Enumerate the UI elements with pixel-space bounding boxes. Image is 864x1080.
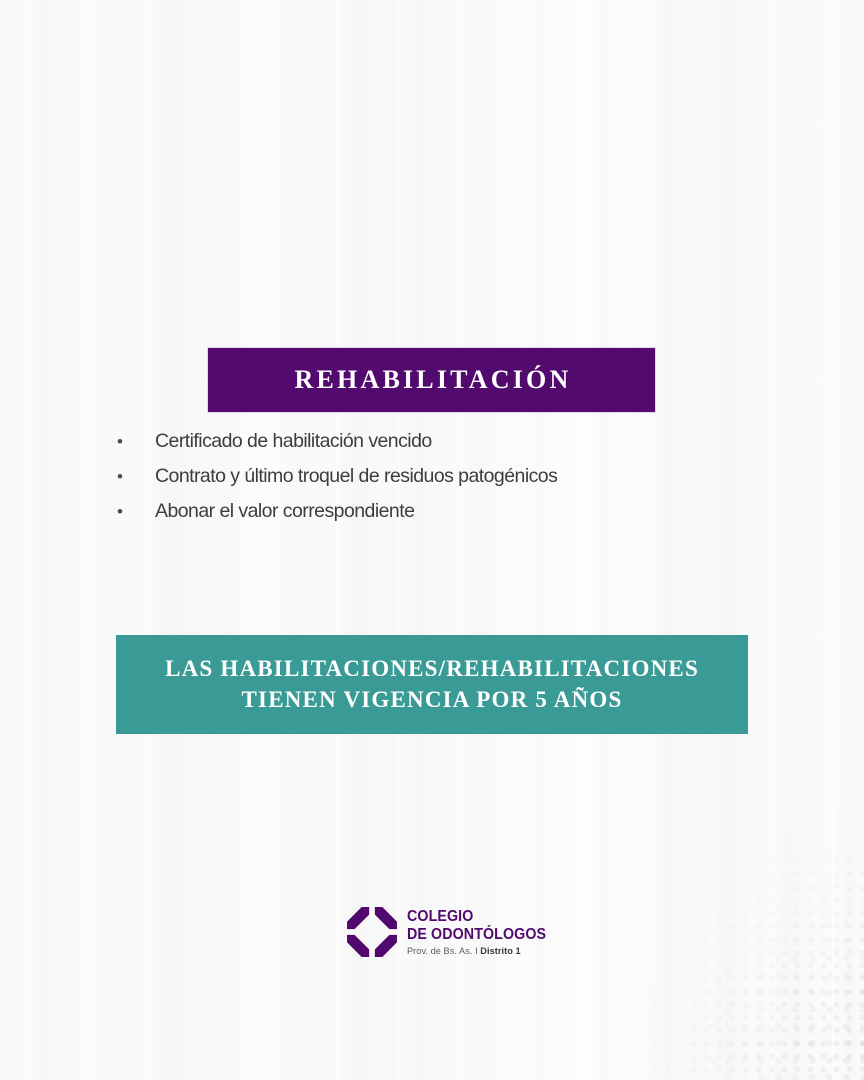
- page-title: REHABILITACIÓN: [292, 367, 572, 393]
- list-item-label: Contrato y último troquel de residuos pa…: [155, 465, 557, 488]
- logo-subtitle: Prov. de Bs. As. I Distrito 1: [407, 946, 558, 956]
- list-item-label: Abonar el valor correspondiente: [155, 500, 414, 523]
- bullet-point-icon: •: [112, 503, 155, 520]
- requirements-list: • Certificado de habilitación vencido • …: [112, 430, 752, 535]
- logo-name-line-2: DE ODONTÓLOGOS: [407, 927, 546, 943]
- logo-subtitle-district: Distrito 1: [480, 946, 520, 956]
- organization-logo: COLEGIO DE ODONTÓLOGOS Prov. de Bs. As. …: [346, 906, 558, 958]
- notice-line-1: LAS HABILITACIONES/REHABILITACIONES: [165, 654, 699, 684]
- colegio-odontologos-octagon-mark-icon: [346, 906, 398, 958]
- title-banner: REHABILITACIÓN: [208, 348, 655, 412]
- notice-line-2: TIENEN VIGENCIA POR 5 AÑOS: [242, 685, 623, 715]
- logo-name-line-1: COLEGIO: [407, 909, 546, 925]
- list-item: • Abonar el valor correspondiente: [112, 500, 752, 535]
- list-item: • Contrato y último troquel de residuos …: [112, 465, 752, 500]
- logo-wordmark: COLEGIO DE ODONTÓLOGOS Prov. de Bs. As. …: [407, 908, 558, 956]
- list-item: • Certificado de habilitación vencido: [112, 430, 752, 465]
- background-halftone-dots-secondary: [634, 780, 864, 1080]
- bullet-point-icon: •: [112, 468, 155, 485]
- validity-notice-banner: LAS HABILITACIONES/REHABILITACIONES TIEN…: [116, 635, 748, 734]
- poster-canvas: REHABILITACIÓN • Certificado de habilita…: [0, 0, 864, 1080]
- list-item-label: Certificado de habilitación vencido: [155, 430, 432, 453]
- bullet-point-icon: •: [112, 433, 155, 450]
- logo-subtitle-prefix: Prov. de Bs. As. I: [407, 946, 480, 956]
